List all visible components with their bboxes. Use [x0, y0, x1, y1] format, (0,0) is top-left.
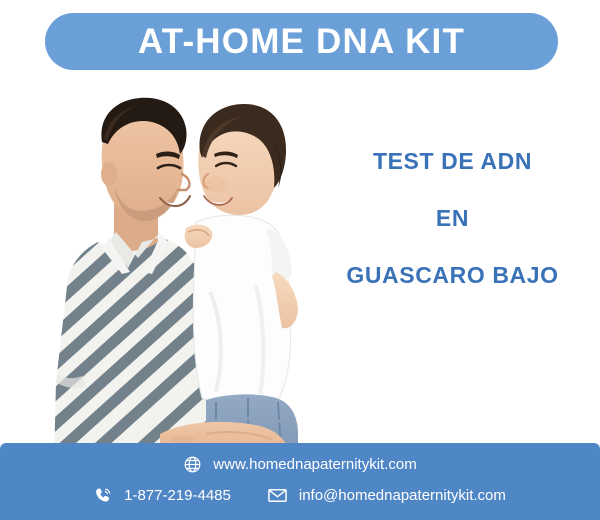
website-contact[interactable]: www.homednapaternitykit.com	[183, 455, 416, 474]
headline-block: TEST DE ADN EN GUASCARO BAJO	[310, 150, 595, 287]
father-and-child-photo	[10, 82, 320, 464]
phone-contact[interactable]: 1-877-219-4485	[94, 486, 231, 505]
phone-icon	[94, 486, 113, 505]
website-label: www.homednapaternitykit.com	[213, 457, 416, 472]
footer-contact-bar: www.homednapaternitykit.com 1-877-219-44…	[0, 443, 600, 520]
headline-line-service: TEST DE ADN	[310, 150, 595, 173]
email-label: info@homednapaternitykit.com	[299, 488, 506, 503]
globe-icon	[183, 455, 202, 474]
headline-line-preposition: EN	[310, 207, 595, 230]
page-title: AT-HOME DNA KIT	[138, 24, 465, 59]
envelope-icon	[267, 485, 288, 506]
promo-card: AT-HOME DNA KIT	[0, 0, 600, 520]
footer-website-row: www.homednapaternitykit.com	[0, 455, 600, 474]
phone-label: 1-877-219-4485	[124, 488, 231, 503]
headline-line-location: GUASCARO BAJO	[310, 264, 595, 287]
header-banner: AT-HOME DNA KIT	[45, 13, 558, 70]
email-contact[interactable]: info@homednapaternitykit.com	[267, 485, 506, 506]
footer-contact-row: 1-877-219-4485 info@homednapaternitykit.…	[0, 485, 600, 506]
